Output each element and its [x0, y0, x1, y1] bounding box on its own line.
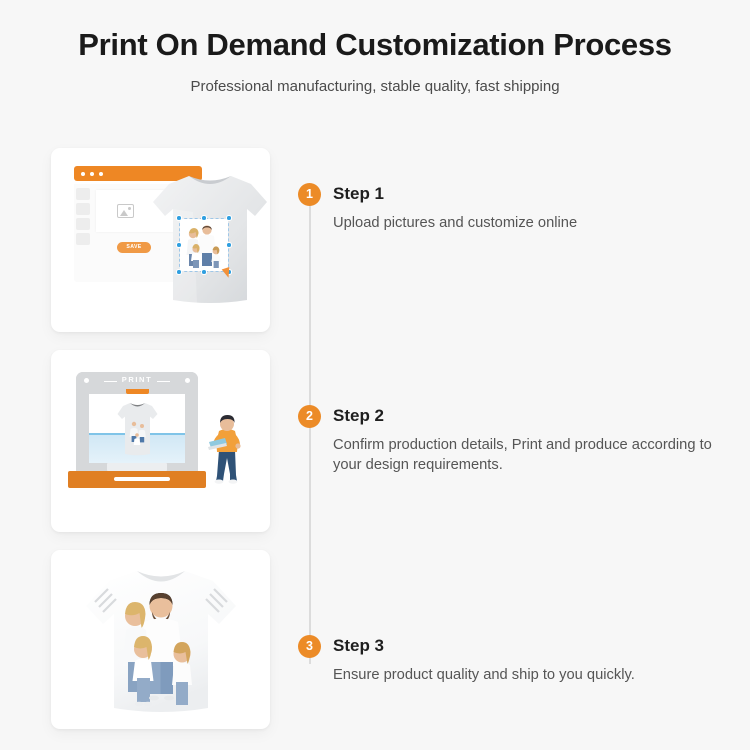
person-holding-laptop-graphic — [203, 412, 251, 484]
step-3-title: Step 3 — [333, 633, 738, 659]
step-2-text: 2 Step 2 Confirm production details, Pri… — [298, 403, 738, 476]
step-2-description: Confirm production details, Print and pr… — [333, 435, 733, 477]
step-3-text: 3 Step 3 Ensure product quality and ship… — [298, 633, 738, 685]
selection-box[interactable] — [179, 218, 229, 272]
page-subtitle: Professional manufacturing, stable quali… — [0, 78, 750, 95]
machine-tray — [107, 463, 167, 471]
printing-machine-illustration: PRINT — [51, 350, 270, 532]
machine-label: PRINT — [76, 375, 198, 384]
sidebar-row — [76, 203, 90, 215]
step-1-text: 1 Step 1 Upload pictures and customize o… — [298, 181, 738, 233]
t-shirt-in-printer-graphic — [116, 400, 159, 458]
machine-output-slot — [114, 477, 170, 481]
browser-dot-icon — [99, 172, 103, 176]
selection-handle[interactable] — [176, 269, 182, 275]
step-1-description: Upload pictures and customize online — [333, 213, 733, 234]
sidebar-row — [76, 188, 90, 200]
step-3-image-card — [51, 550, 270, 729]
step-3-description: Ensure product quality and ship to you q… — [333, 665, 733, 686]
selection-handle[interactable] — [201, 215, 207, 221]
printing-machine: PRINT — [76, 372, 198, 490]
step-1-title: Step 1 — [333, 181, 738, 207]
selection-handle[interactable] — [201, 269, 207, 275]
machine-window — [89, 394, 185, 463]
selection-handle[interactable] — [176, 242, 182, 248]
save-button[interactable]: SAVE — [117, 242, 151, 253]
poster-page: Print On Demand Customization Process Pr… — [0, 0, 750, 750]
step-3-badge: 3 — [298, 635, 321, 658]
browser-dot-icon — [90, 172, 94, 176]
selection-handle[interactable] — [226, 242, 232, 248]
step-2-image-card: PRINT — [51, 350, 270, 532]
browser-dot-icon — [81, 172, 85, 176]
online-editor-illustration: SAVE — [51, 148, 270, 332]
page-title: Print On Demand Customization Process — [0, 26, 750, 65]
finished-t-shirt-graphic — [81, 562, 241, 720]
step-1-image-card: SAVE — [51, 148, 270, 332]
selection-handle[interactable] — [176, 215, 182, 221]
finished-product-illustration — [51, 550, 270, 729]
selection-handle[interactable] — [226, 215, 232, 221]
step-1-badge: 1 — [298, 183, 321, 206]
step-2-badge: 2 — [298, 405, 321, 428]
sidebar-row — [76, 218, 90, 230]
sidebar-row — [76, 233, 90, 245]
image-placeholder-icon — [117, 204, 134, 218]
header: Print On Demand Customization Process Pr… — [0, 0, 750, 95]
step-2-title: Step 2 — [333, 403, 738, 429]
